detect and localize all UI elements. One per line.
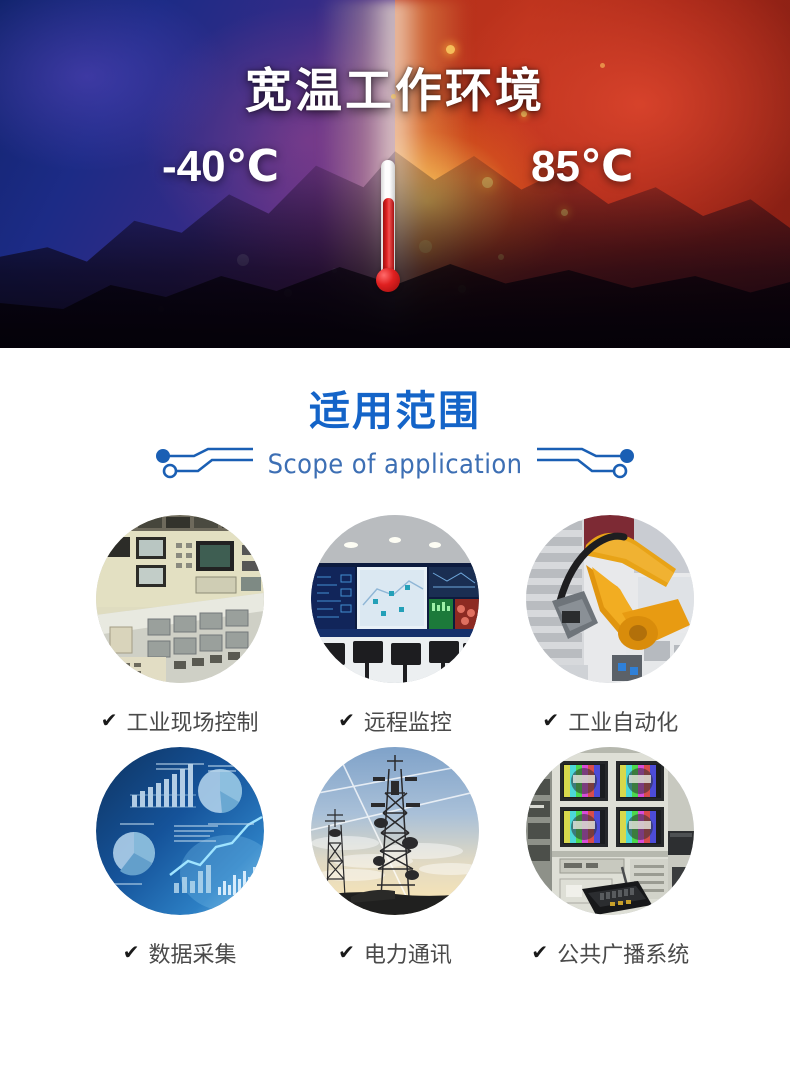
- application-caption: ✔ 公共广播系统: [531, 937, 689, 969]
- ornament-filled-dot: [620, 449, 634, 463]
- telecom-power-tower-photo: [311, 747, 479, 915]
- application-item[interactable]: ✔ 远程监控: [287, 515, 502, 737]
- application-caption: ✔ 数据采集: [123, 937, 237, 969]
- application-item[interactable]: ✔ 工业自动化: [503, 515, 718, 737]
- scope-subtitle: Scope of application: [268, 449, 523, 480]
- check-icon: ✔: [338, 943, 355, 963]
- application-grid: ✔ 工业现场控制: [0, 515, 790, 969]
- application-label: 数据采集: [149, 937, 237, 969]
- thermometer-icon: [376, 160, 400, 310]
- application-item[interactable]: ✔ 公共广播系统: [503, 747, 718, 969]
- application-caption: ✔ 工业现场控制: [101, 705, 259, 737]
- check-icon: ✔: [101, 711, 118, 731]
- application-caption: ✔ 电力通讯: [338, 937, 452, 969]
- application-label: 远程监控: [364, 705, 452, 737]
- temperature-low-label: -40℃: [162, 141, 279, 192]
- application-label: 工业自动化: [568, 705, 678, 737]
- application-caption: ✔ 工业自动化: [542, 705, 678, 737]
- industrial-robot-arm-photo: [526, 515, 694, 683]
- check-icon: ✔: [542, 711, 559, 731]
- hero-banner: 宽温工作环境 -40℃ 85℃: [0, 0, 790, 348]
- ornament-filled-dot: [156, 449, 170, 463]
- application-caption: ✔ 远程监控: [338, 705, 452, 737]
- application-item[interactable]: ✔ 数据采集: [72, 747, 287, 969]
- thermometer-bulb: [376, 268, 400, 292]
- temperature-high-label: 85℃: [531, 141, 633, 192]
- industrial-control-room-photo: [96, 515, 264, 683]
- hero-title: 宽温工作环境: [0, 52, 790, 121]
- check-icon: ✔: [338, 711, 355, 731]
- ornament-hollow-dot: [614, 465, 626, 477]
- scope-title: 适用范围: [0, 390, 790, 433]
- ornament-hollow-dot: [164, 465, 176, 477]
- broadcast-monitor-rack-photo: [526, 747, 694, 915]
- circuit-line-ornament-left-icon: [154, 447, 254, 481]
- check-icon: ✔: [531, 943, 548, 963]
- application-label: 公共广播系统: [557, 937, 689, 969]
- application-label: 电力通讯: [364, 937, 452, 969]
- check-icon: ✔: [123, 943, 140, 963]
- application-label: 工业现场控制: [127, 705, 259, 737]
- data-analytics-dashboard-photo: [96, 747, 264, 915]
- remote-monitoring-video-wall-photo: [311, 515, 479, 683]
- application-item[interactable]: ✔ 电力通讯: [287, 747, 502, 969]
- scope-section: 适用范围 Scope of application: [0, 348, 790, 969]
- circuit-line-ornament-right-icon: [536, 447, 636, 481]
- scope-subtitle-row: Scope of application: [0, 447, 790, 481]
- application-item[interactable]: ✔ 工业现场控制: [72, 515, 287, 737]
